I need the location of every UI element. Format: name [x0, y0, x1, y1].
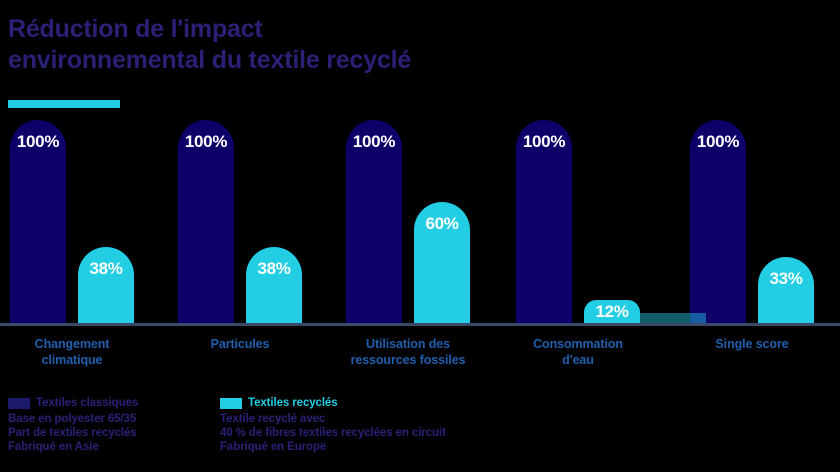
legend-sub-classic-3: Fabriqué en Asie — [8, 440, 213, 454]
legend-head-recycled: Textiles recyclés — [220, 396, 640, 410]
chart-title-line-1: Réduction de l'impact — [8, 14, 828, 45]
bar-group: 100%38% — [10, 120, 134, 325]
category-label-line: Single score — [662, 336, 840, 352]
category-label: Consommationd'eau — [488, 336, 668, 368]
chart-category-axis: ChangementclimatiqueParticulesUtilisatio… — [0, 336, 840, 380]
legend-swatch-classic-icon — [8, 398, 30, 409]
legend-group-recycled: Textiles recyclés Textile recyclé avec 4… — [220, 396, 640, 454]
chart-title-line-2: environnemental du textile recyclé — [8, 45, 828, 76]
bar-value-recycled: 38% — [78, 259, 134, 279]
chart-baseline-axis — [0, 323, 840, 326]
bar-group: 100%60% — [346, 120, 470, 325]
bar-group: 100%12% — [516, 120, 640, 325]
bar-value-recycled: 38% — [246, 259, 302, 279]
chart-title: Réduction de l'impact environnemental du… — [8, 14, 828, 76]
legend-head-classic: Textiles classiques — [8, 396, 213, 410]
legend-swatch-recycled-icon — [220, 398, 242, 409]
bar-value-recycled: 33% — [758, 269, 814, 289]
bar-recycled: 12% — [584, 300, 640, 325]
chart-plot-area: 100%38%100%38%100%60%100%12%100%33% — [0, 120, 840, 325]
category-label-line: Particules — [150, 336, 330, 352]
legend-sub-classic-1: Base en polyester 65/35 — [8, 412, 213, 426]
category-label: Single score — [662, 336, 840, 352]
category-label-line: d'eau — [488, 352, 668, 368]
legend-label-classic: Textiles classiques — [36, 396, 138, 410]
bar-value-recycled: 60% — [414, 214, 470, 234]
legend-sub-classic-2: Part de textiles recyclés — [8, 426, 213, 440]
bar-conventional: 100% — [690, 120, 746, 325]
category-label: Utilisation desressources fossiles — [318, 336, 498, 368]
legend-sub-recycled-3: Fabriqué en Europe — [220, 440, 640, 454]
bar-conventional: 100% — [10, 120, 66, 325]
bar-value-recycled: 12% — [584, 302, 640, 322]
legend-sub-recycled-2: 40 % de fibres textiles recyclées en cir… — [220, 426, 640, 440]
bar-value-conventional: 100% — [690, 132, 746, 152]
legend-label-recycled: Textiles recyclés — [248, 396, 338, 410]
category-label-line: Consommation — [488, 336, 668, 352]
bar-conventional: 100% — [178, 120, 234, 325]
category-label-line: ressources fossiles — [318, 352, 498, 368]
bar-value-conventional: 100% — [516, 132, 572, 152]
bar-value-conventional: 100% — [346, 132, 402, 152]
category-label: Particules — [150, 336, 330, 352]
bar-recycled: 33% — [758, 257, 814, 325]
category-label-line: climatique — [0, 352, 162, 368]
title-accent-bar — [8, 100, 120, 108]
bar-value-conventional: 100% — [178, 132, 234, 152]
bar-group: 100%33% — [690, 120, 814, 325]
legend-sub-recycled-1: Textile recyclé avec — [220, 412, 640, 426]
bar-conventional: 100% — [516, 120, 572, 325]
bar-value-conventional: 100% — [10, 132, 66, 152]
bar-group: 100%38% — [178, 120, 302, 325]
category-label-line: Utilisation des — [318, 336, 498, 352]
bar-conventional: 100% — [346, 120, 402, 325]
bar-recycled: 60% — [414, 202, 470, 325]
category-label-line: Changement — [0, 336, 162, 352]
legend-group-classic: Textiles classiques Base en polyester 65… — [8, 396, 213, 454]
category-label: Changementclimatique — [0, 336, 162, 368]
bar-recycled: 38% — [78, 247, 134, 325]
bar-recycled: 38% — [246, 247, 302, 325]
